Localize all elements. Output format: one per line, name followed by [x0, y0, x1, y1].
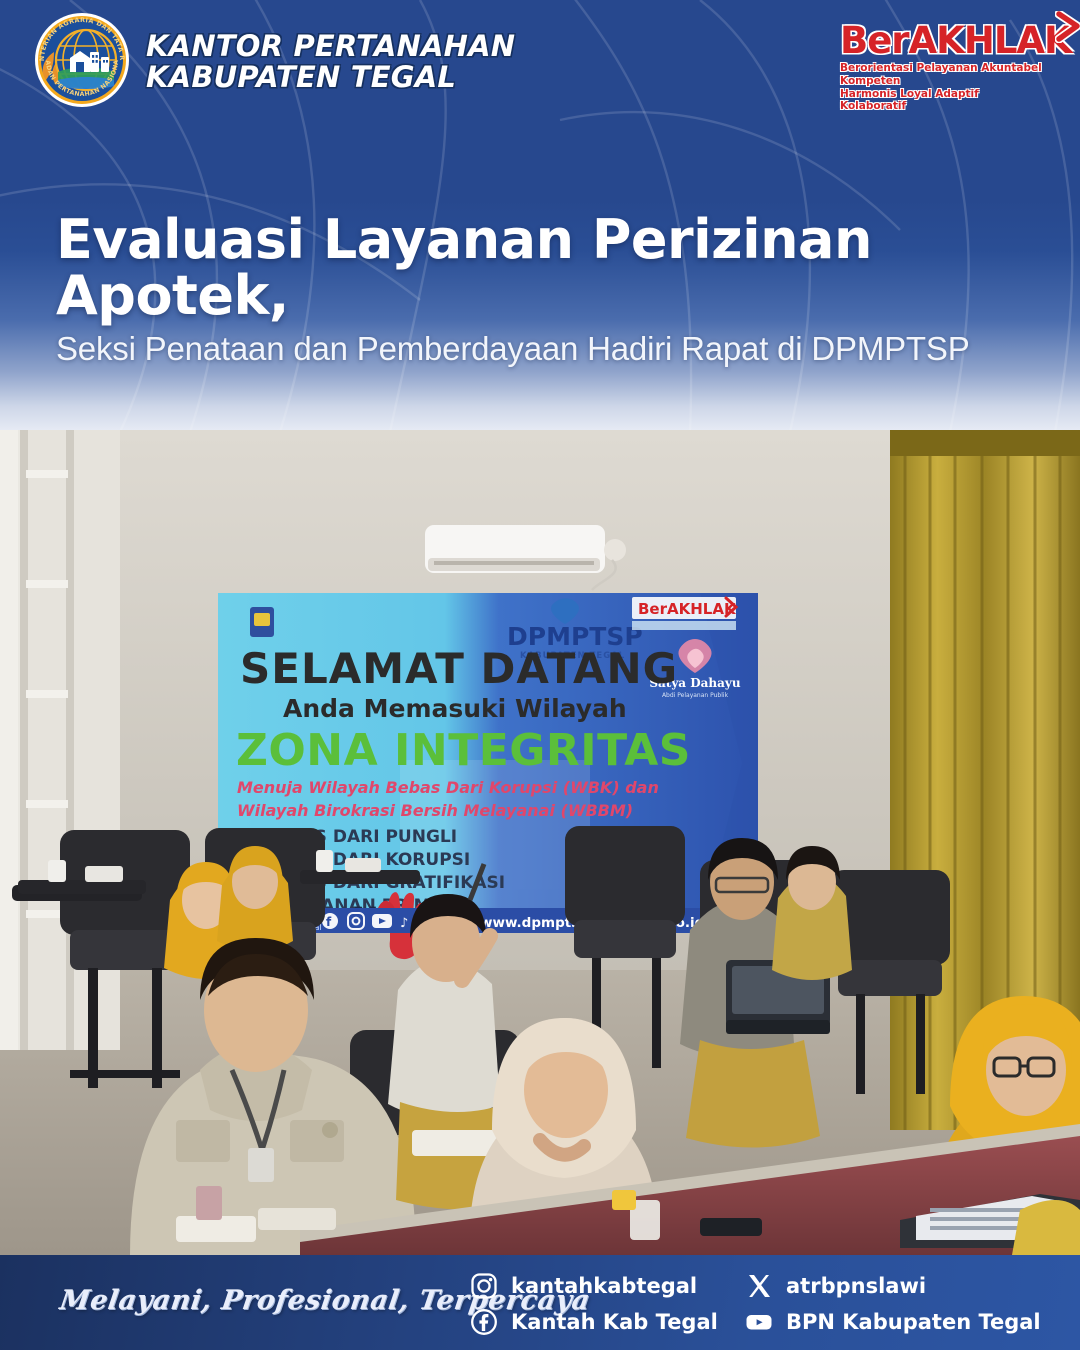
berakhlak-logo: BerAKHLAK Berorientasi Pelayanan Akuntab… — [840, 22, 1046, 113]
svg-text:ZONA INTEGRITAS: ZONA INTEGRITAS — [236, 725, 691, 776]
berakhlak-wordmark: BerAKHLAK — [840, 19, 1072, 62]
berakhlak-tagline: Berorientasi Pelayanan Akuntabel Kompete… — [840, 62, 1046, 113]
event-photograph: DPMPTSP KABUPATEN TEGAL BerAKHLAK Satya … — [0, 430, 1080, 1255]
social-x-twitter[interactable]: atrbpnslawi — [745, 1272, 1045, 1300]
atr-bpn-globe-emblem: KEMENTERIAN AGRARIA DAN TATA RUANG BADAN… — [32, 10, 132, 110]
instagram-handle: kantahkabtegal — [511, 1274, 697, 1298]
org-name-line1: KANTOR PERTANAHAN — [146, 32, 515, 61]
facebook-icon — [470, 1308, 498, 1336]
social-instagram[interactable]: kantahkabtegal — [470, 1272, 745, 1300]
berakhlak-tagline-line1: Berorientasi Pelayanan Akuntabel Kompete… — [840, 62, 1046, 88]
svg-text:Anda Memasuki Wilayah: Anda Memasuki Wilayah — [283, 694, 627, 723]
berakhlak-tagline-line2: Harmonis Loyal Adaptif Kolaboratif — [840, 88, 1046, 114]
poster-footer: Melayani, Profesional, Terpercaya kantah… — [0, 1255, 1080, 1350]
social-facebook[interactable]: Kantah Kab Tegal — [470, 1308, 745, 1336]
social-media-poster: KEMENTERIAN AGRARIA DAN TATA RUANG BADAN… — [0, 0, 1080, 1350]
social-links: kantahkabtegal atrbpnslawi Kantah Kab Te… — [470, 1269, 1045, 1339]
berakhlak-swoosh-icon — [1055, 11, 1080, 43]
title-block: Evaluasi Layanan Perizinan Apotek, Seksi… — [56, 212, 1026, 368]
page-subtitle: Seksi Penataan dan Pemberdayaan Hadiri R… — [56, 330, 1026, 368]
photo-illustration: DPMPTSP KABUPATEN TEGAL BerAKHLAK Satya … — [0, 430, 1080, 1255]
banner-berakhlak-mark: BerAKHLAK — [632, 597, 737, 630]
poster-header: KEMENTERIAN AGRARIA DAN TATA RUANG BADAN… — [0, 0, 1080, 432]
youtube-icon — [745, 1308, 773, 1336]
instagram-icon — [470, 1272, 498, 1300]
facebook-handle: Kantah Kab Tegal — [511, 1310, 718, 1334]
youtube-handle: BPN Kabupaten Tegal — [786, 1310, 1041, 1334]
svg-text:Menuja Wilayah Bebas Dari Koru: Menuja Wilayah Bebas Dari Korupsi (WBK) … — [237, 778, 659, 797]
organization-name: KANTOR PERTANAHAN KABUPATEN TEGAL — [146, 28, 515, 92]
org-name-line2: KABUPATEN TEGAL — [146, 63, 515, 92]
page-title: Evaluasi Layanan Perizinan Apotek, — [56, 212, 1026, 324]
organization-logo: KEMENTERIAN AGRARIA DAN TATA RUANG BADAN… — [32, 10, 515, 110]
social-youtube[interactable]: BPN Kabupaten Tegal — [745, 1308, 1045, 1336]
svg-text:SELAMAT DATANG: SELAMAT DATANG — [240, 644, 678, 693]
x-handle: atrbpnslawi — [786, 1274, 926, 1298]
svg-text:BerAKHLAK: BerAKHLAK — [638, 600, 737, 618]
svg-text:Wilayah Birokrasi Bersih Melay: Wilayah Birokrasi Bersih Melayanai (WBBM… — [237, 801, 633, 820]
svg-text:Abdi Pelayanan Publik: Abdi Pelayanan Publik — [662, 692, 729, 699]
svg-text:f: f — [326, 915, 332, 929]
x-twitter-icon — [745, 1272, 773, 1300]
svg-text:♪: ♪ — [400, 916, 408, 931]
